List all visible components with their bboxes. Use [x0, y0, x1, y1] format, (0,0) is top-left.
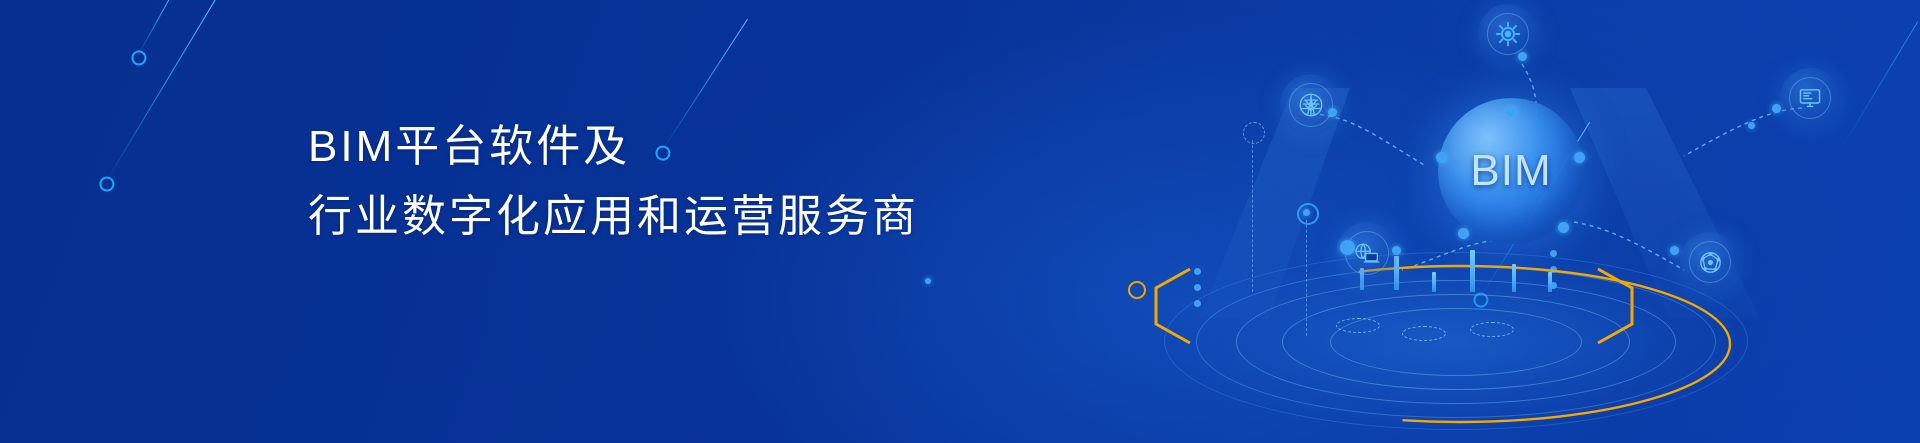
connector-node-left: [1243, 122, 1265, 144]
sphere-anchor-bottom-left: [1458, 228, 1469, 239]
decor-line-knob: [129, 48, 149, 68]
bubble-network-anchor: [1670, 246, 1679, 255]
decor-line-knob: [97, 174, 118, 195]
page-title: BIM平台软件及 行业数字化应用和运营服务商: [308, 112, 919, 251]
data-bar-4: [1470, 250, 1475, 292]
data-bar-3: [1432, 272, 1436, 292]
connector-node-mid-core: [1303, 209, 1310, 216]
node-bubble-monitor[interactable]: [1780, 68, 1840, 128]
sphere-anchor-bottom-right: [1558, 222, 1569, 233]
disc-marker-1: [1336, 318, 1380, 333]
headline-line-2: 行业数字化应用和运营服务商: [308, 182, 919, 252]
decor-line-beam: [136, 0, 175, 58]
disc-marker-3: [1470, 322, 1514, 337]
node-bubble-network[interactable]: [1680, 232, 1740, 292]
sphere-anchor-top: [1506, 106, 1517, 117]
gear-icon: [1495, 21, 1521, 47]
monitor-icon: [1797, 85, 1823, 111]
decor-line-beam: [104, 0, 216, 185]
disc-marker-2: [1402, 326, 1446, 341]
node-bubble-gear[interactable]: [1478, 4, 1538, 64]
decor-dot-small: [925, 278, 931, 284]
data-bar-5: [1512, 264, 1516, 292]
bubble-tower-anchor: [1328, 108, 1337, 117]
globe-laptop-icon: [1352, 239, 1382, 267]
sphere-anchor-right: [1574, 152, 1585, 163]
node-bubble-power-tower[interactable]: [1280, 74, 1342, 136]
sphere-anchor-left: [1436, 152, 1447, 163]
bubble-monitor-anchor: [1772, 104, 1781, 113]
bubble-globe-anchor: [1392, 246, 1401, 255]
bubble-monitor-anchor-2: [1748, 122, 1755, 129]
network-icon: [1697, 249, 1724, 276]
accent-dot-large: [1340, 240, 1355, 255]
headline-line-1: BIM平台软件及: [308, 112, 919, 182]
orange-accent-arc: [1160, 244, 1760, 443]
power-tower-icon: [1297, 91, 1325, 119]
bubble-gear-anchor: [1518, 52, 1527, 61]
bim-hero-banner: BIM平台软件及 行业数字化应用和运营服务商: [0, 0, 1920, 443]
bim-illustration: BIM: [1140, 0, 1920, 443]
decor-hollow-dot: [1128, 281, 1146, 299]
data-bar-6: [1548, 272, 1552, 292]
